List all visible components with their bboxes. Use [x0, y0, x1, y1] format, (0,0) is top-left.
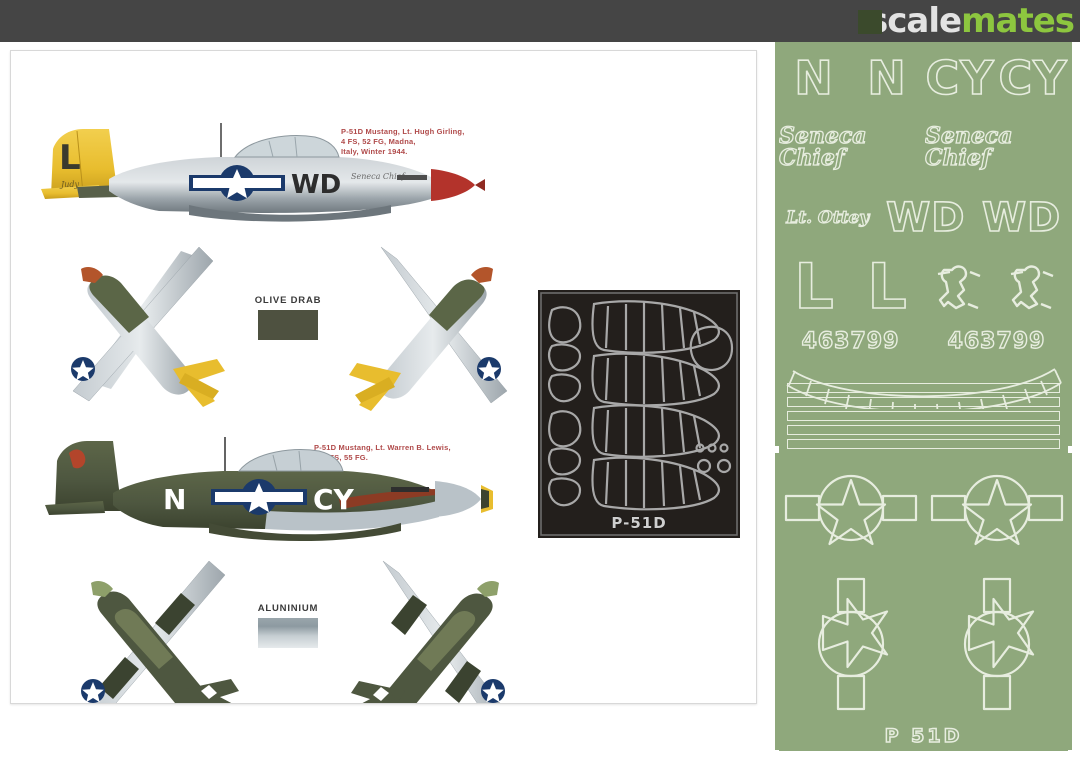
mask-cell-code-wd-1: WD: [879, 184, 972, 252]
logo-text-mates: mates: [961, 1, 1074, 41]
scalemates-logo[interactable]: scalemates: [868, 2, 1074, 40]
stripe-mask: [787, 425, 1060, 435]
color-swatch-olive-drab: OLIVE DRAB: [233, 295, 343, 340]
stripe-mask: [787, 439, 1060, 449]
canopy-mask-sheet: P-51D: [538, 290, 740, 538]
mask-cell-code-wd-2: WD: [975, 184, 1068, 252]
swatch-label-olive-drab: OLIVE DRAB: [233, 295, 343, 306]
swatch-label-aluminium: ALUNINIUM: [233, 603, 343, 614]
mask-cell-nose-art-seneca-chief-2: Seneca Chief: [925, 113, 1068, 181]
aircraft-plan-bottom-right: [317, 557, 527, 704]
mask-cell-serial-2: 463799: [925, 322, 1068, 362]
mask-cell-checker-and-stripes: [779, 365, 1068, 457]
decal-mask-panel-top: N N CY CY Seneca Chief Seneca Chief Lt. …: [775, 42, 1072, 446]
mask-cell-pilot-name-ottey: Lt. Ottey: [779, 184, 876, 252]
canopy-mask-outlines: [538, 290, 740, 538]
stripe-mask: [787, 397, 1060, 407]
decal-mask-panel-insignia: P 51D: [775, 453, 1072, 750]
aircraft-profile-bottom: N CY: [39, 419, 499, 569]
mask-cell-code-l-1: L: [779, 255, 849, 319]
mask-cell-nose-art-seneca-chief-1: Seneca Chief: [779, 113, 922, 181]
stripe-mask: [787, 383, 1060, 393]
page-root: scalemates DRAWING: ANDRZEJ M. OLEJNICZA…: [0, 0, 1080, 763]
star-vertical-insignia-icon: [796, 573, 906, 715]
mask-cell-code-n-2: N: [852, 46, 922, 110]
mask-cell-nose-art-figure-2: [998, 255, 1068, 319]
svg-text:Judy: Judy: [59, 180, 79, 189]
nose-art-figure-icon: [1007, 260, 1059, 314]
svg-text:WD: WD: [291, 170, 341, 200]
svg-text:L: L: [59, 138, 81, 178]
swatch-chip-olive-drab: [258, 310, 318, 340]
mask-cell-code-cy-1: CY: [925, 46, 995, 110]
logo-square-icon: [858, 10, 882, 34]
svg-text:N: N: [163, 483, 186, 516]
star-vertical-insignia-icon: [942, 573, 1052, 715]
mask-cell-star-vertical-2: [925, 570, 1068, 718]
site-header: scalemates: [0, 0, 1080, 42]
nose-art-figure-icon: [934, 260, 986, 314]
aircraft-profile-top: L Judy WD Seneca Chief: [39, 101, 489, 246]
mask-cell-star-bar-2: [925, 457, 1068, 567]
mask-cell-star-vertical-1: [779, 570, 922, 718]
mask-cell-code-n-1: N: [779, 46, 849, 110]
swatch-chip-aluminium: [258, 618, 318, 648]
svg-text:CY: CY: [313, 483, 355, 516]
color-swatch-aluminium: ALUNINIUM: [233, 603, 343, 648]
star-and-bar-insignia-icon: [782, 462, 920, 562]
invasion-stripe-masks: [787, 383, 1060, 453]
mask-cell-serial-1: 463799: [779, 322, 922, 362]
mask-cell-nose-art-figure-1: [925, 255, 995, 319]
stripe-mask: [787, 411, 1060, 421]
mask-cell-star-bar-1: [779, 457, 922, 567]
insignia-panel-title: P 51D: [779, 721, 1068, 751]
mask-cell-code-cy-2: CY: [998, 46, 1068, 110]
canopy-mask-title: P-51D: [538, 514, 740, 532]
star-and-bar-insignia-icon: [928, 462, 1066, 562]
mask-cell-code-l-2: L: [852, 255, 922, 319]
